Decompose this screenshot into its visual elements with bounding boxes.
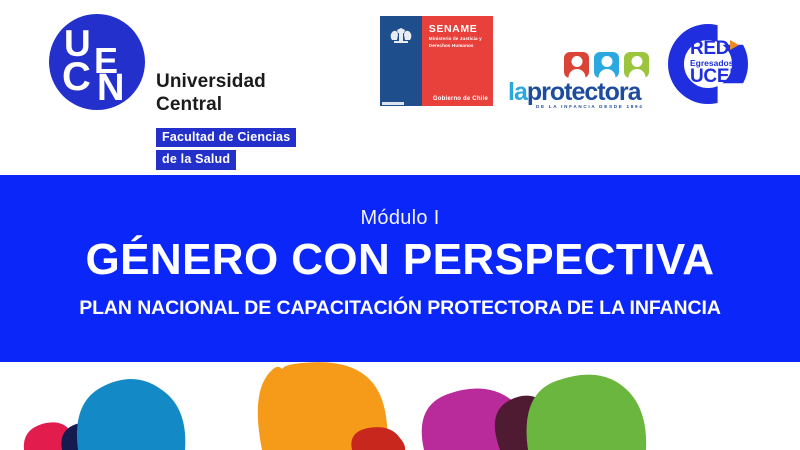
slide-subtitle: PLAN NACIONAL DE CAPACITACIÓN PROTECTORA… [0,297,800,320]
crest-band [382,102,404,105]
slide-title: GÉNERO CON PERSPECTIVA [0,235,800,285]
university-name-line2: Central [156,93,266,116]
sename-flag-red-panel: SENAME Ministerio de Justicia y Derechos… [422,16,493,106]
orange-arrow-icon [730,40,739,50]
protectora-wordmark: laprotectora [508,80,641,105]
faculty-badge-line2: de la Salud [156,150,236,169]
laprotectora-logo-block: laprotectora DE LA INFANCIA DESDE 1894 [508,52,658,112]
green-head-shape [527,375,647,450]
protectora-word-main: protectora [527,78,641,106]
ucen-logo-block: U C E N Universidad Central Facultad de … [44,12,344,162]
sename-subtitle: Ministerio de Justicia y Derechos Humano… [429,36,489,50]
chile-coat-of-arms-icon [388,26,414,48]
protectora-tagline: DE LA INFANCIA DESDE 1894 [536,104,644,109]
red-label: RED [690,38,729,59]
faculty-badges: Facultad de Ciencias de la Salud [156,128,296,173]
protectora-head-icon-blue [594,52,619,78]
protectora-head-icon-green [624,52,649,78]
sename-flag-blue-panel [380,16,422,106]
title-banner: Módulo I GÉNERO CON PERSPECTIVA PLAN NAC… [0,175,800,362]
red-label-wrap: RED [690,40,768,58]
ucen-letter-c: C [62,57,91,97]
ucen-label: UCEN [690,67,768,86]
university-name-line1: Universidad [156,70,266,93]
head-silhouettes-illustration [0,362,800,450]
module-label: Módulo I [0,207,800,230]
ucen-letter-n: N [97,69,124,107]
logo-header-strip: U C E N Universidad Central Facultad de … [0,0,800,175]
red-egresados-text: RED Egresados UCEN [690,40,768,86]
protectora-head-icon-red [564,52,589,78]
red-egresados-ucen-logo-block: RED Egresados UCEN [664,22,768,108]
gobierno-de-chile-label: Gobierno de Chile [433,96,488,102]
protectora-head-icons [564,52,649,78]
university-name: Universidad Central [156,70,266,116]
presentation-slide: U C E N Universidad Central Facultad de … [0,0,800,450]
head-silhouettes-svg [0,362,800,450]
sename-name: SENAME [429,23,478,35]
faculty-badge-line1: Facultad de Ciencias [156,128,296,147]
ucen-circle-icon: U C E N [49,14,145,110]
blue-head-shape [77,379,185,450]
protectora-word-prefix: la [508,78,527,106]
sename-logo-block: SENAME Ministerio de Justicia y Derechos… [380,16,493,106]
